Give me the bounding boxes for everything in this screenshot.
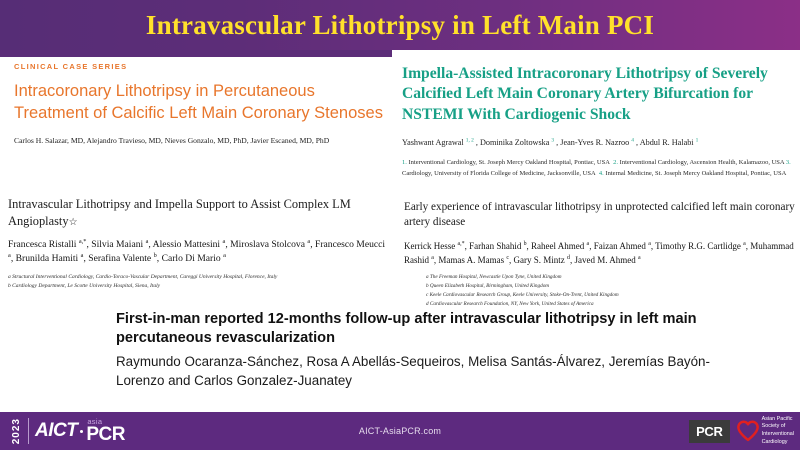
- article-kicker-label: CLINICAL CASE SERIES: [14, 62, 386, 71]
- article-affiliation-heart-d: d Cardiovascular Research Foundation, NY…: [404, 300, 798, 309]
- article-affiliation-b: b Cardiology Department, Le Scotte Unive…: [8, 282, 386, 291]
- footer-logos-right: PCR Asian Pacific Society of Interventio…: [689, 416, 794, 446]
- article-affiliation-heart-b: b Queen Elizabeth Hospital, Birmingham, …: [404, 282, 798, 291]
- apsic-line-3: Interventional: [762, 431, 794, 439]
- logo-divider: [28, 418, 29, 444]
- article-affiliation-heart-a: a The Freeman Hospital, Newcastle Upon T…: [404, 273, 798, 282]
- apsic-line-2: Society of: [762, 423, 794, 431]
- article-card-cureus-impella-assisted: Impella-Assisted Intracoronary Lithotrip…: [402, 64, 794, 179]
- article-authors-ristalli: Francesca Ristalli a,*, Silvia Maiani a,…: [8, 238, 386, 266]
- apsic-society-name: Asian Pacific Society of Interventional …: [762, 416, 794, 447]
- footer-bar: AICT-AsiaPCR.com 2023 AICT asia PCR PCR …: [0, 412, 800, 450]
- article-title-impella-assisted-nstemi: Impella-Assisted Intracoronary Lithotrip…: [402, 64, 794, 125]
- title-star-icon: ☆: [69, 217, 78, 228]
- article-title-text: Intravascular Lithotripsy and Impella Su…: [8, 197, 351, 228]
- article-card-impella-support: Intravascular Lithotripsy and Impella Su…: [8, 196, 386, 291]
- article-title-first-in-man: First-in-man reported 12-months follow-u…: [116, 310, 716, 347]
- article-affiliation-a: a Structural Interventional Cardiology, …: [8, 273, 386, 282]
- article-title-intracoronary-lithotripsy: Intracoronary Lithotripsy in Percutaneou…: [14, 81, 386, 125]
- logo-asiapcr-group: asia PCR: [86, 418, 125, 444]
- article-card-early-experience: Early experience of intravascular lithot…: [404, 200, 798, 309]
- title-banner: Intravascular Lithotripsy in Left Main P…: [0, 0, 800, 50]
- article-title-early-experience: Early experience of intravascular lithot…: [404, 200, 798, 230]
- heart-icon: [737, 420, 759, 442]
- logo-aict-text: AICT: [35, 420, 77, 442]
- article-card-clinical-case-series: CLINICAL CASE SERIES Intracoronary Litho…: [14, 62, 386, 147]
- banner-underline-rule: [0, 50, 392, 57]
- article-authors-ocaranza: Raymundo Ocaranza-Sánchez, Rosa A Abellá…: [116, 353, 716, 390]
- article-title-impella-lm-angioplasty: Intravascular Lithotripsy and Impella Su…: [8, 196, 386, 229]
- aict-asiapcr-logo: 2023 AICT asia PCR: [12, 416, 125, 446]
- pcr-badge: PCR: [689, 420, 730, 443]
- logo-pcr-text: PCR: [86, 425, 125, 444]
- apsic-line-1: Asian Pacific: [762, 416, 794, 424]
- apsic-logo: Asian Pacific Society of Interventional …: [737, 416, 794, 447]
- article-authors-hesse: Kerrick Hesse a,*, Farhan Shahid b, Rahe…: [404, 240, 798, 266]
- article-affiliation-heart-c: c Keele Cardiovascular Research Group, K…: [404, 291, 798, 300]
- article-authors-agrawal: Yashwant Agrawal 1, 2 , Dominika Zoltows…: [402, 137, 794, 148]
- apsic-line-4: Cardiology: [762, 439, 794, 447]
- article-card-first-in-man: First-in-man reported 12-months follow-u…: [116, 310, 716, 390]
- article-authors-salazar: Carlos H. Salazar, MD, Alejandro Travies…: [14, 136, 386, 147]
- article-affiliations-cureus: 1. Interventional Cardiology, St. Joseph…: [402, 158, 794, 179]
- logo-dot-icon: [80, 430, 83, 433]
- slide-title: Intravascular Lithotripsy in Left Main P…: [146, 10, 654, 41]
- logo-year: 2023: [12, 418, 22, 444]
